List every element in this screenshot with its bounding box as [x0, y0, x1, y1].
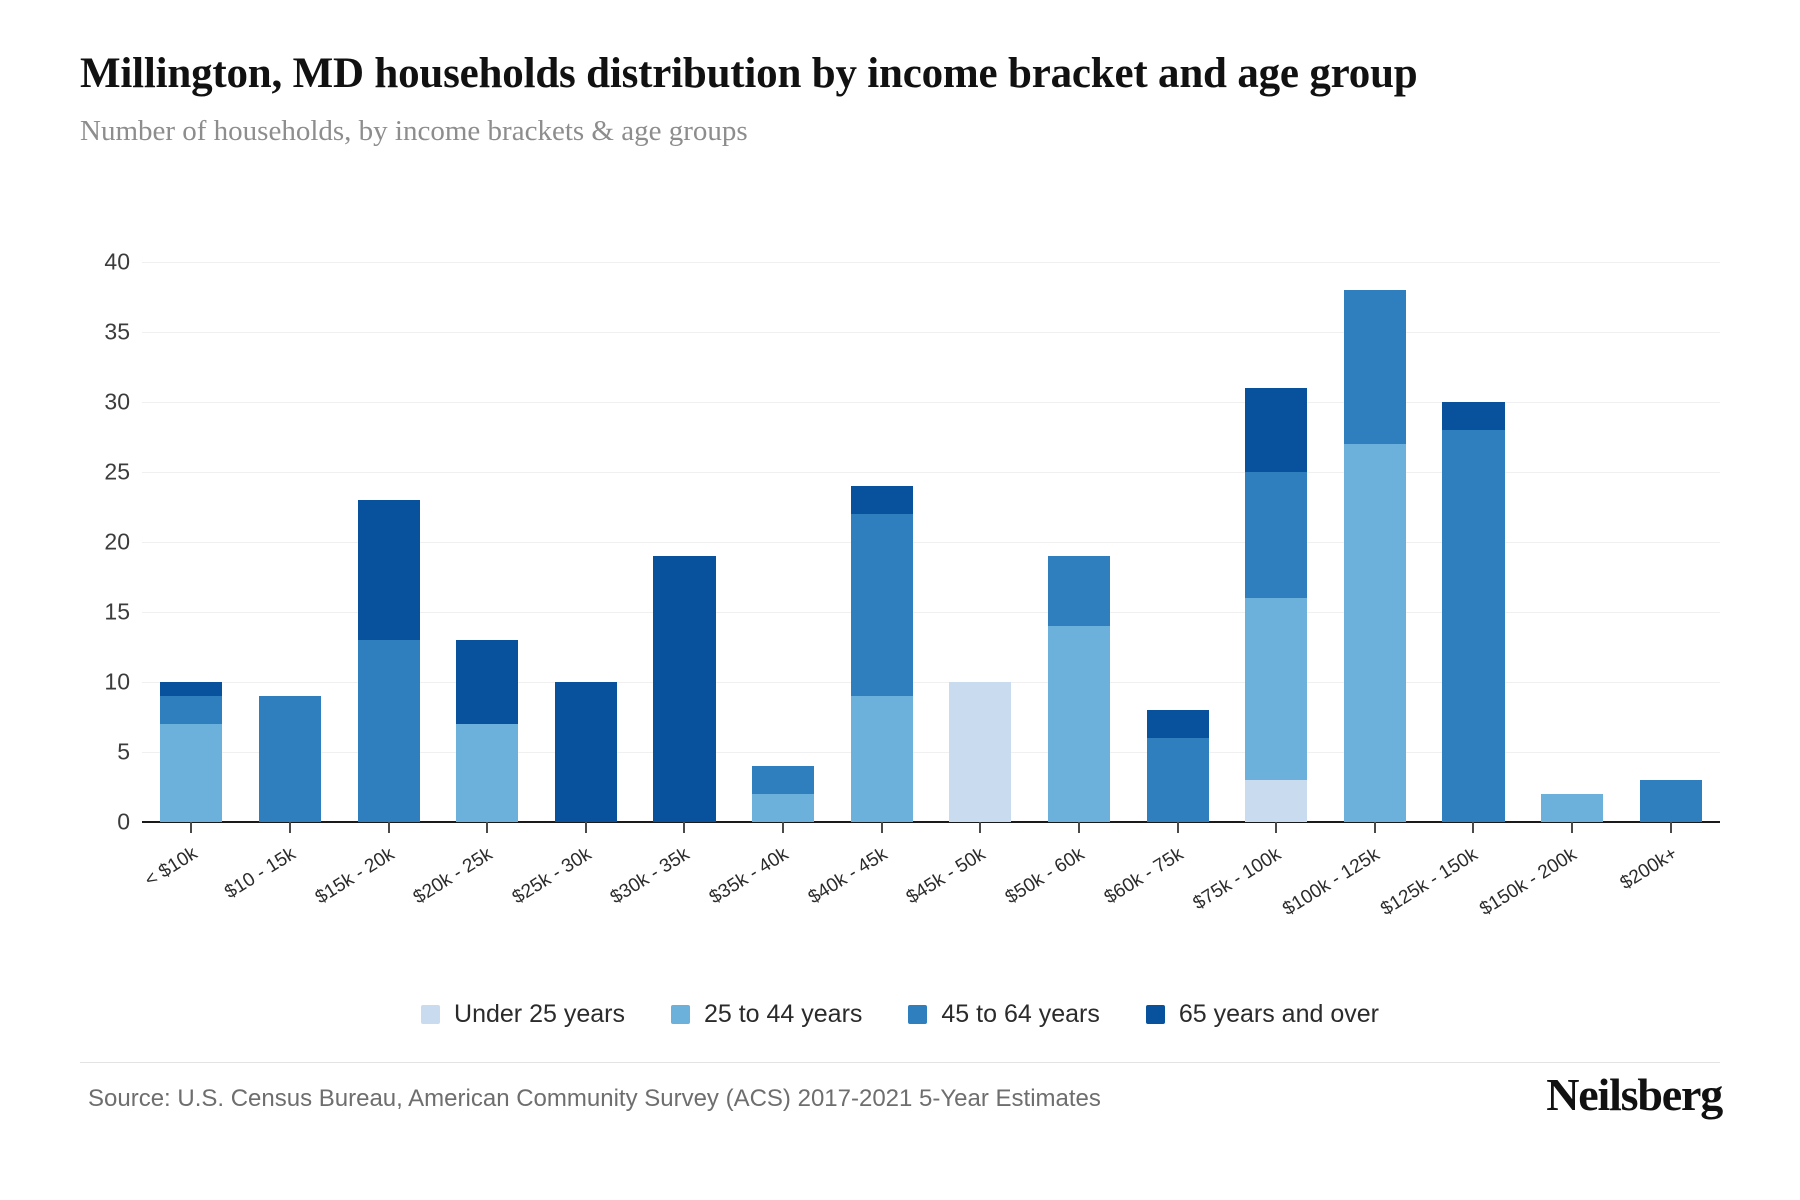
tick-mark — [388, 822, 390, 833]
bar-segment[interactable] — [1245, 472, 1307, 598]
bar-column[interactable] — [1424, 262, 1523, 822]
bar-segment[interactable] — [1541, 794, 1603, 822]
bar-segment[interactable] — [555, 682, 617, 822]
bar-segment[interactable] — [1147, 710, 1209, 738]
x-axis-labels: < $10k$10 - 15k$15k - 20k$20k - 25k$25k … — [142, 836, 1720, 932]
tick-mark — [1670, 822, 1672, 833]
bar-segment[interactable] — [1640, 780, 1702, 822]
bar-segment[interactable] — [752, 766, 814, 794]
bar-column[interactable] — [1128, 262, 1227, 822]
bar-segment[interactable] — [1147, 738, 1209, 822]
bar-segment[interactable] — [1245, 598, 1307, 780]
bar-column[interactable] — [142, 262, 241, 822]
tick-mark — [881, 822, 883, 833]
legend-item[interactable]: Under 25 years — [421, 1000, 625, 1029]
x-axis-tick — [1227, 822, 1326, 833]
bar-column[interactable] — [438, 262, 537, 822]
bar-segment[interactable] — [160, 682, 222, 696]
bar-stack[interactable] — [1147, 710, 1209, 822]
y-axis-tick-label: 15 — [104, 599, 130, 626]
x-axis-tick — [1523, 822, 1622, 833]
y-axis-tick-label: 5 — [117, 739, 130, 766]
bar-stack[interactable] — [1442, 402, 1504, 822]
x-axis-label-cell: $150k - 200k — [1523, 836, 1622, 932]
bar-column[interactable] — [1326, 262, 1425, 822]
bar-stack[interactable] — [358, 500, 420, 822]
bar-column[interactable] — [1030, 262, 1129, 822]
bar-segment[interactable] — [456, 640, 518, 724]
bar-column[interactable] — [241, 262, 340, 822]
bar-segment[interactable] — [851, 696, 913, 822]
bar-segment[interactable] — [358, 640, 420, 822]
x-axis-tick — [1326, 822, 1425, 833]
page-title: Millington, MD households distribution b… — [80, 48, 1640, 100]
bar-column[interactable] — [832, 262, 931, 822]
bar-stack[interactable] — [555, 682, 617, 822]
x-axis-tick — [734, 822, 833, 833]
tick-mark — [1078, 822, 1080, 833]
x-axis-tick — [1621, 822, 1720, 833]
x-axis-tick — [1128, 822, 1227, 833]
brand-logo: Neilsberg — [1546, 1068, 1722, 1121]
tick-mark — [289, 822, 291, 833]
bar-segment[interactable] — [160, 696, 222, 724]
tick-mark — [1177, 822, 1179, 833]
tick-mark — [486, 822, 488, 833]
page-subtitle: Number of households, by income brackets… — [80, 114, 1700, 149]
x-axis-tick — [241, 822, 340, 833]
x-axis-tick — [1030, 822, 1129, 833]
bar-column[interactable] — [931, 262, 1030, 822]
bar-segment[interactable] — [851, 514, 913, 696]
x-axis-tick — [142, 822, 241, 833]
bar-stack[interactable] — [456, 640, 518, 822]
bar-segment[interactable] — [1442, 402, 1504, 430]
bar-stack[interactable] — [653, 556, 715, 822]
bar-stack[interactable] — [1640, 780, 1702, 822]
tick-mark — [683, 822, 685, 833]
plot-area: 0510152025303540 — [80, 262, 1720, 822]
legend-label: 45 to 64 years — [941, 1000, 1099, 1029]
bar-stack[interactable] — [949, 682, 1011, 822]
bar-segment[interactable] — [1048, 626, 1110, 822]
legend-swatch-icon — [421, 1005, 440, 1024]
bar-stack[interactable] — [851, 486, 913, 822]
bar-column[interactable] — [339, 262, 438, 822]
bar-stack[interactable] — [1344, 290, 1406, 822]
bar-segment[interactable] — [358, 500, 420, 640]
bar-segment[interactable] — [1048, 556, 1110, 626]
bar-segment[interactable] — [1344, 444, 1406, 822]
y-axis-tick-label: 25 — [104, 459, 130, 486]
x-axis-label-cell: $200k+ — [1621, 836, 1720, 932]
x-axis-tick — [438, 822, 537, 833]
y-axis-tick-label: 20 — [104, 529, 130, 556]
bar-segment[interactable] — [1442, 430, 1504, 822]
x-axis-tick — [339, 822, 438, 833]
tick-mark — [979, 822, 981, 833]
y-axis-tick-label: 40 — [104, 249, 130, 276]
bar-stack[interactable] — [1245, 388, 1307, 822]
legend-label: 25 to 44 years — [704, 1000, 862, 1029]
chart-legend: Under 25 years25 to 44 years45 to 64 yea… — [0, 1000, 1800, 1029]
bar-column[interactable] — [734, 262, 833, 822]
legend-swatch-icon — [671, 1005, 690, 1024]
bar-segment[interactable] — [1344, 290, 1406, 444]
y-axis: 0510152025303540 — [80, 262, 142, 822]
x-axis-tick — [1424, 822, 1523, 833]
bar-segment[interactable] — [1245, 780, 1307, 822]
footer-divider — [80, 1062, 1720, 1063]
bar-stack[interactable] — [1541, 794, 1603, 822]
tick-mark — [1374, 822, 1376, 833]
x-axis-ticks — [142, 822, 1720, 834]
bar-column[interactable] — [635, 262, 734, 822]
tick-mark — [1275, 822, 1277, 833]
bar-segment[interactable] — [1245, 388, 1307, 472]
tick-mark — [1571, 822, 1573, 833]
x-axis-tick — [832, 822, 931, 833]
legend-swatch-icon — [908, 1005, 927, 1024]
bar-series-layer — [142, 262, 1720, 822]
bar-stack[interactable] — [259, 696, 321, 822]
bar-stack[interactable] — [1048, 556, 1110, 822]
bar-segment[interactable] — [259, 696, 321, 822]
y-axis-tick-label: 35 — [104, 319, 130, 346]
bar-segment[interactable] — [653, 556, 715, 822]
bar-segment[interactable] — [851, 486, 913, 514]
bar-column[interactable] — [1523, 262, 1622, 822]
x-axis-label: $200k+ — [1616, 843, 1681, 895]
chart-page: Millington, MD households distribution b… — [0, 0, 1800, 1200]
y-axis-tick-label: 0 — [117, 809, 130, 836]
legend-item[interactable]: 65 years and over — [1146, 1000, 1379, 1029]
bar-segment[interactable] — [949, 682, 1011, 822]
tick-mark — [782, 822, 784, 833]
tick-mark — [190, 822, 192, 833]
bar-column[interactable] — [1621, 262, 1720, 822]
y-axis-tick-label: 10 — [104, 669, 130, 696]
tick-mark — [585, 822, 587, 833]
bar-segment[interactable] — [456, 724, 518, 822]
legend-swatch-icon — [1146, 1005, 1165, 1024]
legend-item[interactable]: 25 to 44 years — [671, 1000, 862, 1029]
legend-item[interactable]: 45 to 64 years — [908, 1000, 1099, 1029]
bar-segment[interactable] — [160, 724, 222, 822]
tick-mark — [1472, 822, 1474, 833]
x-axis-tick — [635, 822, 734, 833]
bar-segment[interactable] — [752, 794, 814, 822]
source-note: Source: U.S. Census Bureau, American Com… — [88, 1085, 1101, 1113]
bar-stack[interactable] — [752, 766, 814, 822]
x-axis-tick — [931, 822, 1030, 833]
y-axis-tick-label: 30 — [104, 389, 130, 416]
x-axis-label: < $10k — [142, 843, 202, 892]
bar-stack[interactable] — [160, 682, 222, 822]
chart-header: Millington, MD households distribution b… — [80, 48, 1700, 149]
legend-label: Under 25 years — [454, 1000, 625, 1029]
bar-column[interactable] — [1227, 262, 1326, 822]
x-axis-tick — [537, 822, 636, 833]
legend-label: 65 years and over — [1179, 1000, 1379, 1029]
bar-column[interactable] — [537, 262, 636, 822]
